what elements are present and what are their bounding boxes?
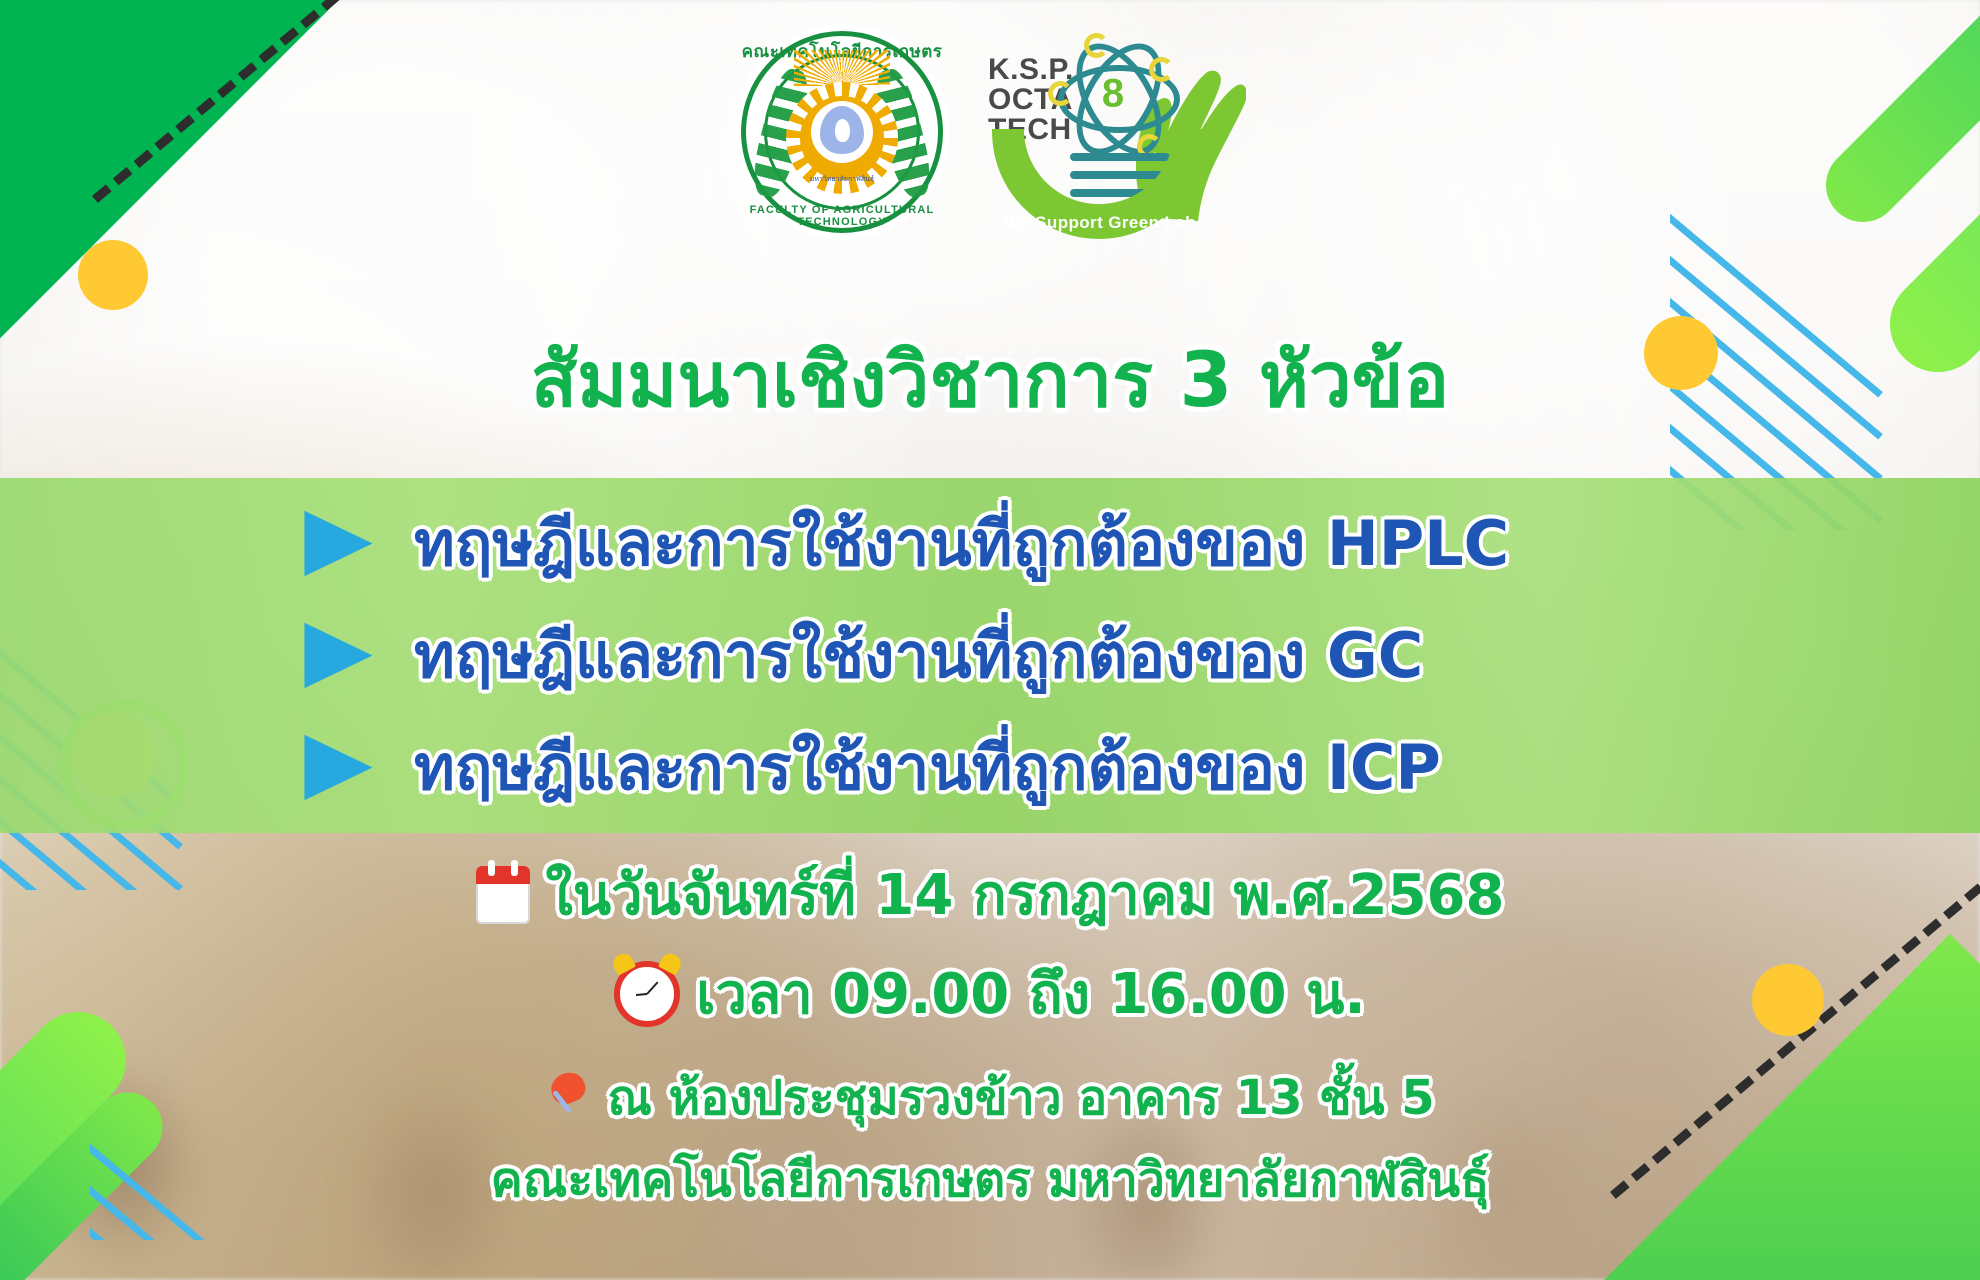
list-item: ทฤษฎีและการใช้งานที่ถูกต้องของ GC [300,607,1980,705]
topic-label: ทฤษฎีและการใช้งานที่ถูกต้องของ GC [414,607,1423,705]
ksp-octa-tech-logo: K.S.P. OCTA TECH 8 We Support Gre [984,25,1246,239]
topic-label: ทฤษฎีและการใช้งานที่ถูกต้องของ ICP [414,719,1441,817]
event-organizer-line: คณะเทคโนโลยีการเกษตร มหาวิทยาลัยกาฬสินธุ… [0,1142,1980,1218]
calendar-icon [476,866,530,924]
sun-rays-icon [794,50,890,86]
logo-row: คณะเทคโนโลยีการเกษตร มหาวิทยาลัยกาฬสินธุ… [0,24,1980,240]
topics-list: ทฤษฎีและการใช้งานที่ถูกต้องของ HPLC ทฤษฎ… [0,478,1980,833]
play-triangle-icon [300,617,374,695]
seminar-poster: คณะเทคโนโลยีการเกษตร มหาวิทยาลัยกาฬสินธุ… [0,0,1980,1280]
faculty-logo-english-text: FACULTY OF AGRICULTURAL TECHNOLOGY [734,204,950,228]
play-triangle-icon [300,729,374,807]
event-date-text: ในวันจันทร์ที่ 14 กรกฎาคม พ.ศ.2568 [546,850,1505,939]
faculty-logo-university-text: มหาวิทยาลัยกาฬสินธุ์ [810,174,874,185]
topic-label: ทฤษฎีและการใช้งานที่ถูกต้องของ HPLC [414,495,1509,593]
event-place-text: ณ ห้องประชุมรวงข้าว อาคาร 13 ชั้น 5 [607,1060,1434,1136]
atom-electron-2 [1084,33,1109,58]
page-title: สัมมนาเชิงวิชาการ 3 หัวข้อ [0,320,1980,440]
play-triangle-icon [300,505,374,583]
event-time-line: เวลา 09.00 ถึง 16.00 น. [0,949,1980,1038]
atom-electron-3 [1149,57,1174,82]
we-support-green-lab-label: We Support Green Lab [1000,213,1200,233]
list-item: ทฤษฎีและการใช้งานที่ถูกต้องของ ICP [300,719,1980,817]
atom-electron-1 [1048,81,1073,106]
event-organizer-text: คณะเทคโนโลยีการเกษตร มหาวิทยาลัยกาฬสินธุ… [491,1142,1490,1218]
map-pin-icon [545,1071,591,1125]
event-place-line: ณ ห้องประชุมรวงข้าว อาคาร 13 ชั้น 5 [0,1060,1980,1136]
list-item: ทฤษฎีและการใช้งานที่ถูกต้องของ HPLC [300,495,1980,593]
event-date-line: ในวันจันทร์ที่ 14 กรกฎาคม พ.ศ.2568 [0,850,1980,939]
atom-number-8: 8 [1102,72,1124,117]
faculty-of-agricultural-technology-logo: คณะเทคโนโลยีการเกษตร มหาวิทยาลัยกาฬสินธุ… [734,24,950,240]
event-details: ในวันจันทร์ที่ 14 กรกฎาคม พ.ศ.2568 เวลา … [0,850,1980,1224]
event-time-text: เวลา 09.00 ถึง 16.00 น. [696,949,1365,1038]
dot-yellow-top-left [78,240,148,310]
alarm-clock-icon [614,961,680,1027]
